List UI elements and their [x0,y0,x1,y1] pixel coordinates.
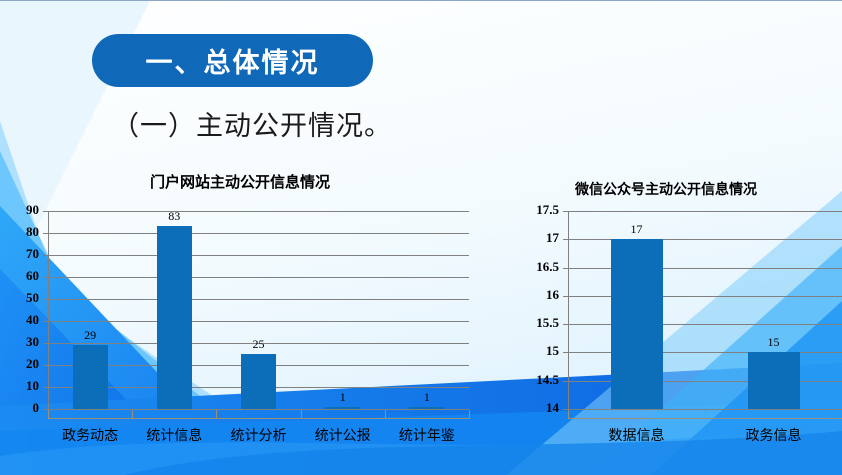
category-axis-line [48,418,469,419]
y-axis-label: 40 [0,312,39,328]
category-label: 统计信息 [132,425,216,445]
y-axis-label: 90 [0,202,39,218]
y-axis-label: 50 [0,290,39,306]
chart-wechat-plot: 1414.51515.51616.51717.517数据信息15政务信息 [490,179,842,444]
y-axis-label: 80 [0,224,39,240]
gridline [568,268,842,269]
category-label: 统计年鉴 [385,425,469,445]
gridline [48,409,469,410]
gridline [48,277,469,278]
chart-portal-plot: 010203040506070809029政务动态83统计信息25统计分析1统计… [0,171,480,441]
gridline [48,299,469,300]
section-subtitle: （一）主动公开情况。 [112,104,392,143]
gridline [568,211,842,212]
bar-value-label: 17 [597,222,677,237]
gridline [568,352,842,353]
category-tick [48,410,49,419]
gridline [568,381,842,382]
gridline [48,255,469,256]
gridline [568,239,842,240]
category-tick [705,410,706,419]
y-axis-label: 60 [0,268,39,284]
bar [325,407,360,409]
y-axis-line [48,211,49,410]
category-label: 统计公报 [301,425,385,445]
bar-value-label: 1 [387,390,467,405]
y-axis-label: 15 [490,343,559,359]
category-label: 政务信息 [705,425,842,445]
y-axis-label: 0 [0,400,39,416]
category-tick [469,410,470,419]
gridline [48,233,469,234]
gridline [568,324,842,325]
y-axis-label: 14.5 [490,372,559,388]
section-badge: 一、总体情况 [92,34,373,87]
bar-value-label: 29 [50,328,130,343]
y-axis-label: 10 [0,378,39,394]
gridline [48,211,469,212]
bar-value-label: 83 [134,209,214,224]
y-axis-label: 16.5 [490,259,559,275]
y-axis-line [568,211,569,410]
slide-canvas: 一、总体情况 （一）主动公开情况。 门户网站主动公开信息情况 010203040… [0,0,842,475]
y-axis-label: 20 [0,356,39,372]
category-label: 数据信息 [568,425,705,445]
category-tick [568,410,569,419]
bar-value-label: 1 [303,390,383,405]
category-tick [132,410,133,419]
section-badge-label: 一、总体情况 [146,41,320,80]
category-tick [385,410,386,419]
category-label: 政务动态 [48,425,132,445]
y-axis-label: 17.5 [490,202,559,218]
gridline [568,296,842,297]
y-axis-label: 16 [490,287,559,303]
y-axis-label: 70 [0,246,39,262]
bar [748,352,800,409]
y-axis-label: 17 [490,230,559,246]
bar [409,407,444,409]
gridline [48,321,469,322]
y-axis-label: 14 [490,400,559,416]
bar-value-label: 15 [734,335,814,350]
category-tick [301,410,302,419]
y-axis-label: 30 [0,334,39,350]
bar [611,239,663,409]
bar-value-label: 25 [219,337,299,352]
bar [241,354,276,409]
category-tick [216,410,217,419]
chart-portal: 门户网站主动公开信息情况 010203040506070809029政务动态83… [0,171,480,441]
bar [157,226,192,409]
chart-wechat: 微信公众号主动公开信息情况 1414.51515.51616.51717.517… [490,179,842,444]
bar [73,345,108,409]
y-axis-label: 15.5 [490,315,559,331]
category-label: 统计分析 [216,425,300,445]
